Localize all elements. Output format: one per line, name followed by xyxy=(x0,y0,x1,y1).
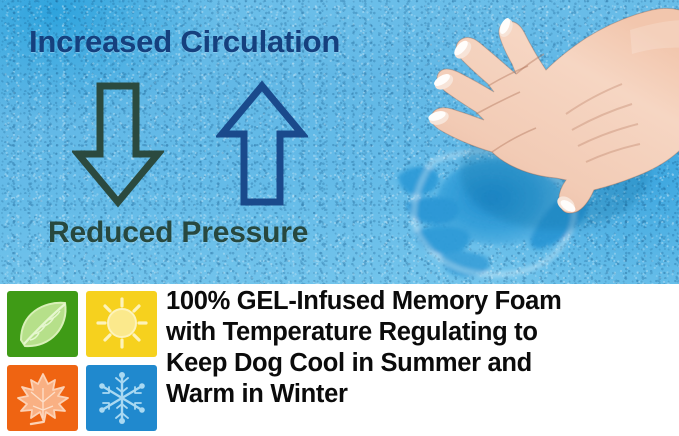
headline-line-3: Keep Dog Cool in Summer and xyxy=(166,348,666,379)
feature-headline: 100% GEL-Infused Memory Foam with Temper… xyxy=(166,286,666,410)
arrow-down-icon xyxy=(72,80,164,215)
hand-photo-svg xyxy=(380,0,679,284)
sun-icon xyxy=(86,291,157,357)
season-icon-grid xyxy=(7,291,157,431)
snowflake-icon xyxy=(86,365,157,431)
maple-leaf-icon xyxy=(7,365,78,431)
headline-line-1: 100% GEL-Infused Memory Foam xyxy=(166,286,666,317)
headline-line-4: Warm in Winter xyxy=(166,379,666,410)
info-band: 100% GEL-Infused Memory Foam with Temper… xyxy=(0,284,679,436)
product-feature-poster: Increased Circulation Reduced Pressure xyxy=(0,0,679,436)
headline-line-2: with Temperature Regulating to xyxy=(166,317,666,348)
leaf-icon xyxy=(7,291,78,357)
gel-memory-foam-photo: Increased Circulation Reduced Pressure xyxy=(0,0,679,284)
arrow-up-icon xyxy=(216,80,308,215)
label-increased-circulation: Increased Circulation xyxy=(29,24,340,60)
hand-photo xyxy=(380,0,679,284)
label-reduced-pressure: Reduced Pressure xyxy=(48,216,308,250)
